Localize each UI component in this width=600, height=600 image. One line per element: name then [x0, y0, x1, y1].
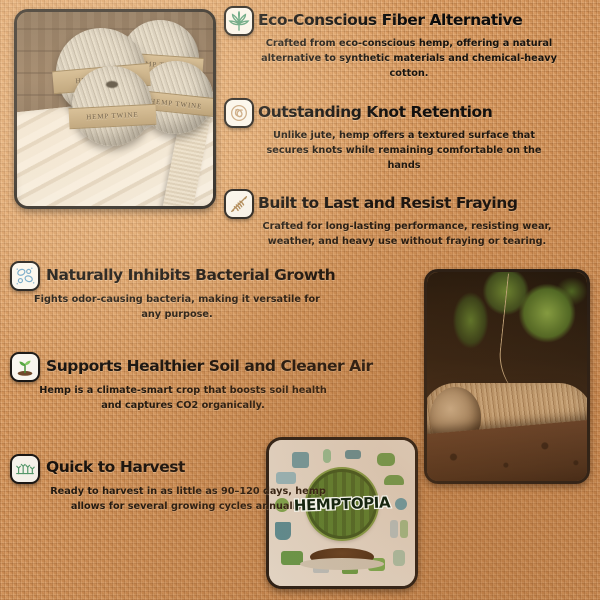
feature-body: Fights odor-causing bacteria, making it …	[32, 292, 322, 322]
feature-title: Eco-Conscious Fiber Alternative	[258, 11, 522, 29]
hemp-leaf-icon	[224, 6, 254, 36]
twisted-rope-icon	[224, 189, 254, 219]
twine-spool-photo	[424, 269, 590, 484]
hemp-twine-balls-photo: HEMP TWINE HEMP TWINE HEMP TWINE HEMP TW…	[14, 9, 216, 209]
feature-title: Quick to Harvest	[46, 458, 185, 476]
harvest-field-icon	[10, 454, 40, 484]
twine-ball: HEMP TWINE	[72, 66, 152, 146]
feature-title: Outstanding Knot Retention	[258, 103, 492, 121]
feature-body: Crafted from eco-conscious hemp, offerin…	[254, 36, 564, 81]
feature-title: Built to Last and Resist Fraying	[258, 194, 517, 212]
rope-knot-icon	[224, 98, 254, 128]
infographic-canvas: HEMP TWINE HEMP TWINE HEMP TWINE HEMP TW…	[0, 0, 600, 600]
hemptopia-wordmark: HEMPTOPIA	[294, 494, 391, 515]
twine-ball-center-hole	[106, 81, 119, 88]
feature-body: Unlike jute, hemp offers a textured surf…	[254, 128, 554, 173]
seedling-sprout-icon	[10, 352, 40, 382]
feature-body: Crafted for long-lasting performance, re…	[252, 219, 562, 249]
feature-title: Supports Healthier Soil and Cleaner Air	[46, 357, 373, 375]
feature-body: Hemp is a climate-smart crop that boosts…	[38, 383, 328, 413]
twine-label: HEMP TWINE	[68, 104, 156, 129]
feature-title: Naturally Inhibits Bacterial Growth	[46, 266, 335, 284]
bacteria-microbe-icon	[10, 261, 40, 291]
logo-base-plate	[300, 558, 384, 570]
